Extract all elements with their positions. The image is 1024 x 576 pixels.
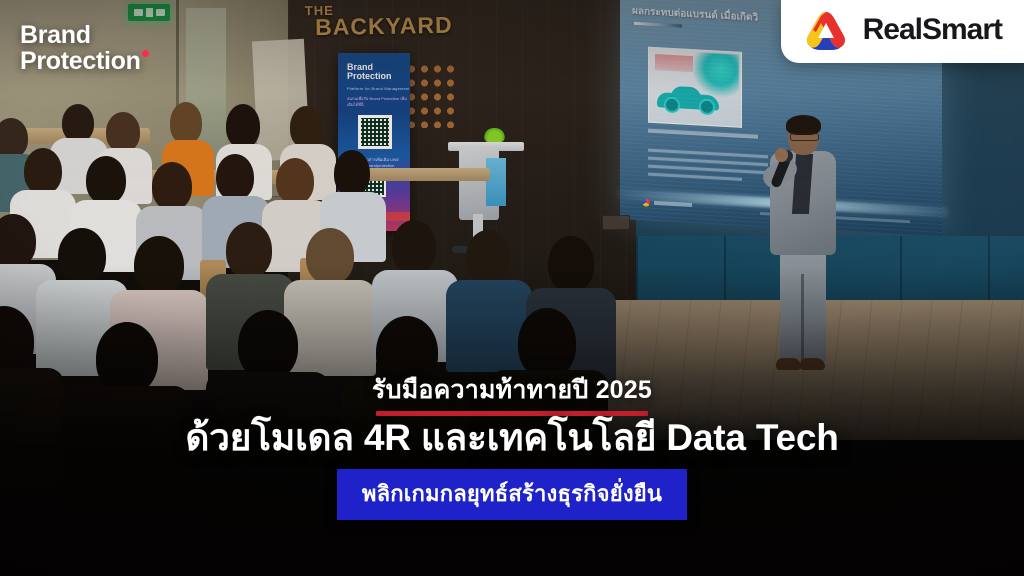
rollup-title: Brand Protection xyxy=(347,63,392,82)
watermark-line2: Protection xyxy=(20,47,141,75)
speaker-with-microphone xyxy=(756,118,852,386)
realsmart-wordmark: RealSmart xyxy=(863,15,1002,45)
realsmart-triangle-ribbon-logo xyxy=(803,9,849,51)
headline-overlay: รับมือความท้าทายปี 2025 ด้วยโมเดล 4R และ… xyxy=(0,356,1024,576)
brand-protection-watermark: Brand Protection xyxy=(20,22,141,74)
slide-accent-rule xyxy=(634,22,682,28)
watermark-line1: Brand xyxy=(20,21,91,49)
venue-signage: THE BACKYARD xyxy=(305,3,453,39)
exit-sign xyxy=(128,4,170,21)
headline-badge: พลิกเกมกลยุทธ์สร้างธุรกิจยั่งยืน xyxy=(337,469,687,520)
realsmart-logo-card[interactable]: RealSmart xyxy=(781,0,1024,63)
slide-body-text xyxy=(648,149,768,188)
slide-illustration xyxy=(648,47,742,128)
car-smoke-illustration xyxy=(657,86,719,115)
headline-kicker-text: รับมือความท้าทายปี 2025 xyxy=(372,376,652,404)
watermark-accent-dot xyxy=(142,50,149,57)
news-hero-image: THE BACKYARD ผลกระทบต่อแบรนด์ เมื่อเกิดว… xyxy=(0,0,1024,576)
headline-title: ด้วยโมเดล 4R และเทคโนโลยี Data Tech xyxy=(0,408,1024,467)
rollup-subtitle: Platform for Brand Management xyxy=(347,86,410,91)
slide-image-caption xyxy=(648,129,758,139)
rollup-note: สแกนเพื่อรับ Brand Protection เพิ่มเติมไ… xyxy=(347,96,410,108)
venue-signage-line2: BACKYARD xyxy=(315,15,453,39)
